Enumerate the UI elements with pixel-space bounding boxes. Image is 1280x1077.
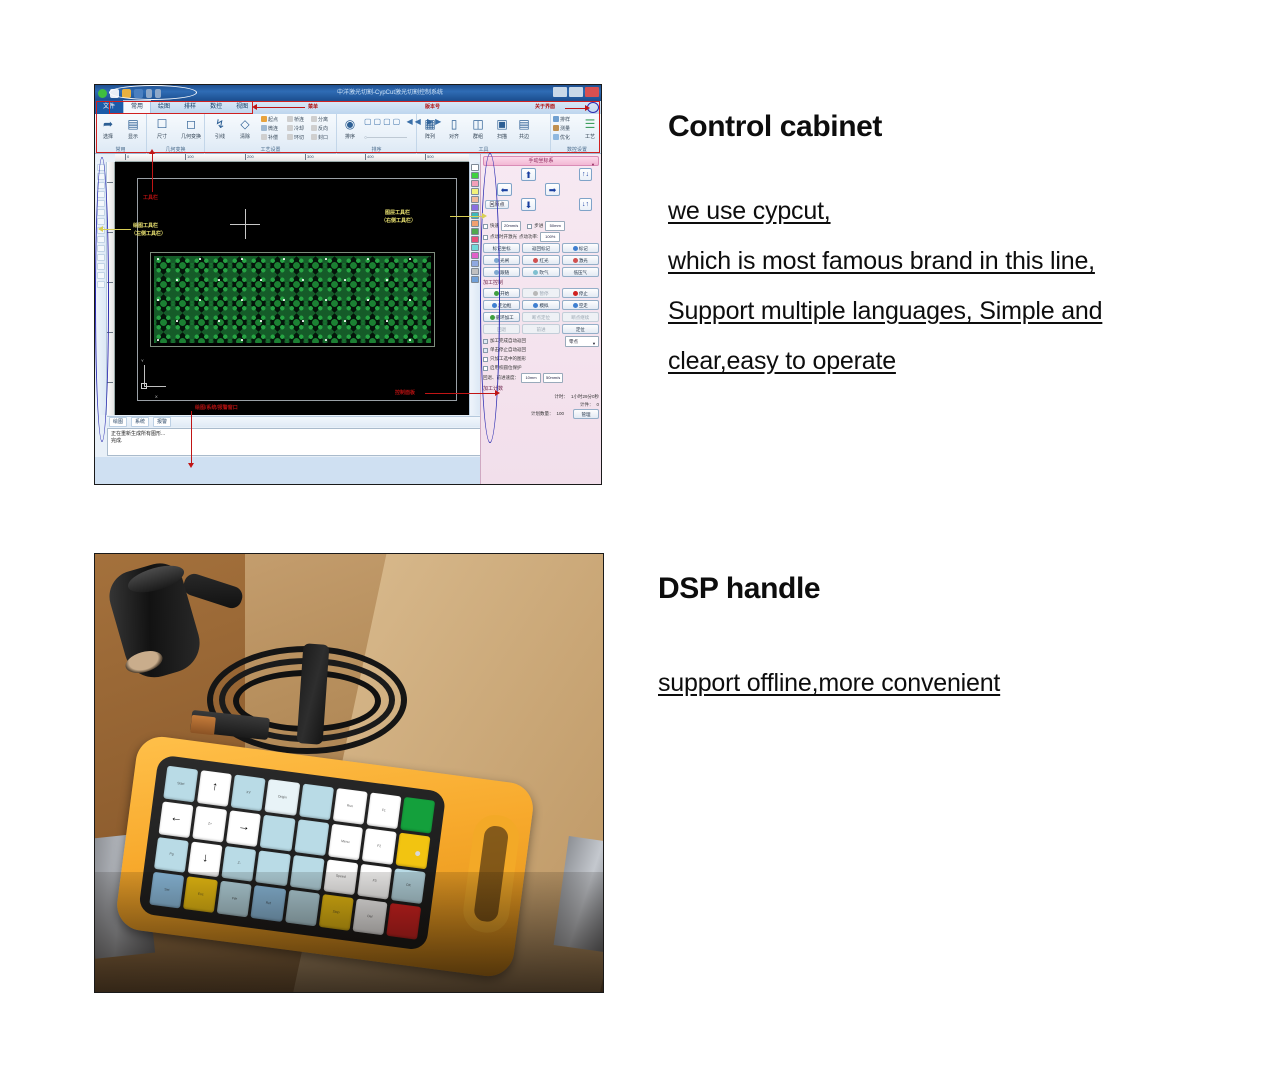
jog-speed-row[interactable]: 快速 20mm/s 步进 50mm: [483, 221, 599, 231]
back-button[interactable]: 回退: [483, 324, 520, 334]
control-cabinet-heading: Control cabinet: [668, 110, 1102, 144]
tab-draw[interactable]: 绘图: [151, 101, 177, 114]
follow-icon: [494, 270, 499, 275]
stat-time-value: 1小时29分0秒: [571, 393, 599, 401]
ribbon-button-shared-edge[interactable]: ▤ 共边: [513, 116, 535, 140]
control-panel[interactable]: 手动坐标系 ▼ ⬆ ⬅ ➡ ⬇ ↑↓ ↓↑ 回原点 快速 20mm/s 步进 5…: [480, 154, 601, 484]
mark-button[interactable]: 标记: [562, 243, 599, 253]
arrow-right-icon: →: [237, 818, 251, 833]
control-cabinet-line-4: clear,easy to operate: [668, 336, 1102, 386]
jog-z-down-button[interactable]: ↓↑: [579, 198, 592, 211]
manage-button[interactable]: 管理: [573, 409, 599, 419]
ruler-label-200: 200: [247, 154, 254, 159]
ribbon-item-start-point[interactable]: 起点: [261, 116, 278, 124]
red-light-icon: [533, 258, 538, 263]
dry-run-button[interactable]: 空走: [562, 300, 599, 310]
layer-swatch-magenta[interactable]: [471, 252, 479, 259]
axis-label-x: X: [155, 394, 158, 399]
tab-cnc[interactable]: 数控: [203, 101, 229, 114]
part-geometry[interactable]: [150, 252, 435, 347]
jog-power-label: 点动功率:: [519, 233, 538, 241]
window-buttons[interactable]: [553, 87, 599, 97]
arrow-down-icon: ↓: [202, 850, 210, 865]
layer-swatch-pink[interactable]: [471, 180, 479, 187]
ribbon-item-compensate[interactable]: 补偿: [261, 134, 278, 142]
draw-tool-point-icon[interactable]: [97, 164, 105, 171]
key-up-arrow[interactable]: ↑: [197, 770, 232, 807]
arrow-left-icon: ←: [170, 809, 184, 824]
breakpoint-continue-button[interactable]: 断点继续: [562, 312, 599, 322]
scan-icon: ▣: [491, 116, 513, 133]
key-r1c1[interactable]: Start: [163, 766, 198, 803]
laser-on-jog-checkbox[interactable]: [483, 235, 488, 240]
stat-count-label: 计件：: [580, 401, 594, 409]
tab-nest[interactable]: 排样: [177, 101, 203, 114]
tab-file[interactable]: 文件: [95, 100, 123, 114]
loop-icon: [490, 315, 495, 320]
cypcut-title-bar: 中洋激光切割-CypCut激光切割控制系统: [95, 85, 601, 101]
fast-checkbox[interactable]: [483, 224, 488, 229]
eraser-icon: ◇: [234, 116, 256, 133]
laser-on-jog-label: 点动时开激光: [490, 233, 517, 241]
open-folder-icon[interactable]: [122, 89, 131, 98]
draw-tool-explode-icon[interactable]: [97, 272, 105, 279]
ribbon-group-geometry: ☐ 尺寸 ◻ 几何变换 几何变换: [147, 114, 205, 154]
layer-swatch-peach[interactable]: [471, 196, 479, 203]
process-button-grid[interactable]: 开始 暂停 停止 走边框 模拟 空走 循环加工 断点定位 断点继续 回退 前进 …: [483, 288, 599, 334]
ribbon-item-cool[interactable]: 冷却: [287, 125, 304, 133]
draw-tool-arc-icon[interactable]: [97, 191, 105, 198]
annotation-arrow-status-panels: [188, 463, 194, 468]
draw-tool-line-icon[interactable]: [97, 173, 105, 180]
draw-tool-poly-icon[interactable]: [97, 209, 105, 216]
bottom-tab-draw[interactable]: 绘图: [109, 417, 127, 427]
draw-tool-trim-icon[interactable]: [97, 227, 105, 234]
ribbon-item-microjoint[interactable]: 微连: [261, 125, 278, 133]
start-point-icon: [261, 116, 267, 122]
stats-title: 加工计数: [483, 385, 599, 393]
jog-laser-row[interactable]: 点动时开激光 点动功率: 100%: [483, 232, 599, 242]
return-origin-button[interactable]: 回原点: [485, 200, 509, 209]
dsp-handle-text-block: DSP handle support offline,more convenie…: [658, 572, 1000, 708]
ribbon-group-process: ↯ 引线 ◇ 清除 起点 微连 补偿 桥连 冷却 环切 分离 反向 封口 工艺设…: [205, 114, 337, 154]
transform-icon: ◻: [178, 116, 204, 133]
save-icon[interactable]: [134, 89, 143, 98]
breakpoint-locate-button[interactable]: 断点定位: [522, 312, 559, 322]
stop-icon: [573, 291, 578, 296]
return-point-select[interactable]: 零点 ▼: [565, 336, 599, 347]
lead-icon: ↯: [209, 116, 231, 133]
key-yellow-r2[interactable]: [395, 832, 430, 869]
jog-left-button[interactable]: ⬅: [497, 183, 512, 196]
key-r1c6[interactable]: Run: [332, 788, 367, 825]
marker-button-grid[interactable]: 标记坐标 返回标记 标记 光闸 红光 激光 跟随 吹气 低压气: [483, 243, 599, 277]
return-speed-row[interactable]: 回退、前进速度： 10mm 50mm/s: [483, 373, 599, 383]
ruler-label-100: 100: [187, 154, 194, 159]
ribbon-item-optimize[interactable]: 优化: [553, 134, 570, 142]
drawing-toolbar[interactable]: [96, 162, 107, 415]
sort-icon: ◉: [339, 116, 361, 133]
maximize-button[interactable]: [569, 87, 583, 97]
low-pressure-gas-button[interactable]: 低压气: [562, 267, 599, 277]
ribbon-button-select[interactable]: ➦ 选择: [97, 116, 119, 140]
stat-planned-value: 100: [556, 410, 564, 418]
window-title: 中洋激光切割-CypCut激光切割控制系统: [275, 87, 505, 99]
stat-time: 计时： 1小时29分0秒: [483, 393, 599, 401]
ribbon-button-array[interactable]: ▦ 阵列: [419, 116, 441, 140]
jog-z-up-button[interactable]: ↑↓: [579, 168, 592, 181]
ribbon-item-seal[interactable]: 封口: [311, 134, 328, 142]
selected-only-checkbox[interactable]: [483, 357, 488, 362]
ribbon-item-measure[interactable]: 测量: [553, 125, 570, 133]
jog-down-button[interactable]: ⬇: [521, 198, 536, 211]
layer-swatch-gray[interactable]: [471, 268, 479, 275]
layer-swatch-white[interactable]: [471, 164, 479, 171]
ribbon-group-label-process: 工艺设置: [205, 147, 336, 154]
bottom-tab-alarm[interactable]: 报警: [153, 417, 171, 427]
bottom-tab-strip[interactable]: 绘图 系统 报警: [107, 416, 480, 427]
optimize-icon: [553, 134, 559, 140]
align-icon: ▯: [443, 116, 465, 133]
filigree-pattern: [154, 256, 431, 343]
frame-button[interactable]: 走边框: [483, 300, 520, 310]
nest-icon: [553, 116, 559, 122]
ribbon-item-nest[interactable]: 排样: [553, 116, 570, 124]
step-value[interactable]: 50mm: [545, 221, 565, 231]
ribbon-item-bridge[interactable]: 桥连: [287, 116, 304, 124]
array-icon: ▦: [419, 116, 441, 133]
layer-swatch-steel[interactable]: [471, 276, 479, 283]
ribbon-item-separate[interactable]: 分离: [311, 116, 328, 124]
ruler-vertical: [107, 162, 115, 415]
return-mark-button[interactable]: 返回标记: [522, 243, 559, 253]
ribbon-group-sort: ◉ 排序 ▢▢▢▢ ◀◀ ▶▶ ○———————— 排序: [337, 114, 417, 154]
microjoint-icon: [261, 125, 267, 131]
app-logo-icon[interactable]: [98, 89, 107, 98]
layer-toolbar[interactable]: [469, 162, 480, 415]
layer-swatch-blue[interactable]: [471, 260, 479, 267]
reverse-icon: [311, 125, 317, 131]
ribbon-item-reverse[interactable]: 反向: [311, 125, 328, 133]
ribbon-group-label-sort: 排序: [337, 147, 416, 154]
auto-return-option[interactable]: 加工完成自动返回: [483, 337, 563, 345]
chevron-down-icon[interactable]: ▼: [592, 339, 596, 348]
bridge-icon: [287, 116, 293, 122]
blow-button[interactable]: 吹气: [522, 267, 559, 277]
stat-time-label: 计时：: [554, 393, 568, 401]
simulate-icon: [533, 303, 538, 308]
key-r2c7[interactable]: F2: [362, 828, 397, 865]
ribbon-button-scan[interactable]: ▣ 扫描: [491, 116, 513, 140]
return-distance-value[interactable]: 10mm: [521, 373, 541, 383]
usb-connector-tip: [190, 715, 216, 735]
draw-tool-fillet-icon[interactable]: [97, 281, 105, 288]
dsp-handle-heading: DSP handle: [658, 572, 1000, 606]
key-r1c4[interactable]: Origin: [265, 779, 300, 816]
shutter-button[interactable]: 光闸: [483, 255, 520, 265]
ribbon-button-size[interactable]: ☐ 尺寸: [151, 116, 173, 140]
ribbon-group-label-geometry: 几何变换: [147, 147, 204, 154]
sort-slider[interactable]: ○————————: [364, 134, 407, 142]
jog-power-value[interactable]: 100%: [540, 232, 560, 242]
layer-swatch-yellow[interactable]: [471, 188, 479, 195]
jog-right-button[interactable]: ➡: [545, 183, 560, 196]
ruler-label-500: 500: [427, 154, 434, 159]
laser-icon: [573, 258, 578, 263]
simulate-button[interactable]: 模拟: [522, 300, 559, 310]
minimize-button[interactable]: [553, 87, 567, 97]
click-stop-option[interactable]: 单击停止自动返回: [483, 346, 563, 354]
key-green-start[interactable]: [400, 797, 435, 834]
shutter-icon: [494, 258, 499, 263]
return-speed-label: 回退、前进速度：: [483, 374, 519, 382]
dsp-handle-photo: Start ↑ XY Origin Run F1 ← Z+ → Menu F2: [94, 553, 604, 993]
mark-coord-button[interactable]: 标记坐标: [483, 243, 520, 253]
cursor-icon: ➦: [97, 116, 119, 133]
layer-swatch-green[interactable]: [471, 172, 479, 179]
bottom-tab-system[interactable]: 系统: [131, 417, 149, 427]
ribbon-button-sort[interactable]: ◉ 排序: [339, 116, 361, 140]
pause-button[interactable]: 暂停: [522, 288, 559, 298]
tab-common[interactable]: 常用: [123, 100, 151, 114]
layer-swatch-purple[interactable]: [471, 204, 479, 211]
key-r2c2[interactable]: Z+: [192, 806, 227, 843]
group-icon: ◫: [467, 116, 489, 133]
dry-run-icon: [573, 303, 578, 308]
protect-option[interactable]: 启用校圆位保护: [483, 364, 563, 372]
ribbon-button-transform[interactable]: ◻ 几何变换: [178, 116, 204, 140]
dsp-handle-line-1: support offline,more convenient: [658, 658, 1000, 708]
seal-icon: [311, 134, 317, 140]
play-icon: [494, 291, 499, 296]
control-cabinet-text-block: Control cabinet we use cypcut, which is …: [668, 110, 1102, 386]
close-button[interactable]: [585, 87, 599, 97]
forward-button[interactable]: 前进: [522, 324, 559, 334]
step-checkbox[interactable]: [527, 224, 532, 229]
ribbon-group-common: ➦ 选择 ▤ 显示 常用: [95, 114, 147, 154]
stat-planned-label: 计划数量：: [531, 410, 554, 418]
redo-icon[interactable]: [155, 89, 161, 98]
shared-edge-icon: ▤: [513, 116, 535, 133]
key-r1c3[interactable]: XY: [231, 775, 266, 812]
draw-tool-mirror-icon[interactable]: [97, 245, 105, 252]
list-icon: ▤: [122, 116, 144, 133]
arrow-up-icon: ↑: [211, 779, 219, 794]
auto-return-row[interactable]: 加工完成自动返回 单击停止自动返回 只加工选中的图形 启用校圆位保护 零点 ▼: [483, 336, 599, 372]
process-section-label: 加工控制: [483, 279, 599, 287]
ribbon-button-display[interactable]: ▤ 显示: [122, 116, 144, 140]
ribbon-button-align[interactable]: ▯ 对齐: [443, 116, 465, 140]
stop-button[interactable]: 停止: [562, 288, 599, 298]
control-panel-title[interactable]: 手动坐标系 ▼: [483, 156, 599, 166]
draw-tool-offset-icon[interactable]: [97, 236, 105, 243]
click-stop-checkbox[interactable]: [483, 348, 488, 353]
mark-icon: [573, 246, 578, 251]
key-r3c1[interactable]: Pg: [154, 837, 189, 874]
laser-button[interactable]: 激光: [562, 255, 599, 265]
cool-icon: [287, 125, 293, 131]
key-r2c4[interactable]: [260, 814, 295, 851]
ribbon-item-ring[interactable]: 环切: [287, 134, 304, 142]
tab-view[interactable]: 视图: [229, 101, 255, 114]
ruler-label-400: 400: [367, 154, 374, 159]
frame-icon: [492, 303, 497, 308]
locate-button[interactable]: 定位: [562, 324, 599, 334]
draw-tool-rotate-icon[interactable]: [97, 254, 105, 261]
draw-tool-text-icon[interactable]: [97, 218, 105, 225]
stat-planned: 计划数量： 100 管理: [483, 409, 599, 419]
selected-only-option[interactable]: 只加工选中的图形: [483, 355, 563, 363]
jog-up-button[interactable]: ⬆: [521, 168, 536, 181]
key-right-arrow[interactable]: →: [226, 810, 261, 847]
ribbon-group-tools: ▦ 阵列 ▯ 对齐 ◫ 群组 ▣ 扫描 ▤ 共边: [417, 114, 551, 154]
key-r2c6[interactable]: Menu: [328, 823, 363, 860]
red-light-button[interactable]: 红光: [522, 255, 559, 265]
control-cabinet-line-1: we use cypcut,: [668, 186, 1102, 236]
protect-checkbox[interactable]: [483, 366, 488, 371]
measure-icon: [553, 125, 559, 131]
pause-icon: [533, 291, 538, 296]
draw-tool-circle-icon[interactable]: [97, 182, 105, 189]
fast-label: 快速: [490, 222, 499, 230]
ribbon-toolbar[interactable]: ➦ 选择 ▤ 显示 常用 ☐ 尺寸 ◻ 几何变换 几何变换: [95, 114, 601, 154]
ribbon-button-lead[interactable]: ↯ 引线: [209, 116, 231, 140]
key-r2c5[interactable]: [294, 819, 329, 856]
slide-canvas: 中洋激光切割-CypCut激光切割控制系统 文件 常用 绘图 排样 数控 视图 …: [0, 0, 1280, 1077]
layer-swatch-darkgreen[interactable]: [471, 228, 479, 235]
separate-icon: [311, 116, 317, 122]
follow-button[interactable]: 跟随: [483, 267, 520, 277]
quick-access-toolbar[interactable]: [98, 89, 161, 98]
ribbon-group-label-common: 常用: [95, 147, 146, 154]
photo-shadow-overlay: [95, 872, 603, 992]
ribbon-button-process[interactable]: ☰ 工艺: [579, 116, 601, 140]
ribbon-button-clear[interactable]: ◇ 清除: [234, 116, 256, 140]
fast-value[interactable]: 20mm/s: [501, 221, 521, 231]
ribbon-group-cnc-settings: 排样 测量 优化 ☰ 工艺 数控设置: [551, 114, 602, 154]
blow-icon: [533, 270, 538, 275]
layer-swatch-cyan[interactable]: [471, 244, 479, 251]
layer-swatch-teal[interactable]: [471, 212, 479, 219]
ring-icon: [287, 134, 293, 140]
jog-pad[interactable]: ⬆ ⬅ ➡ ⬇ ↑↓ ↓↑ 回原点: [483, 168, 599, 220]
axis-label-y: Y: [141, 358, 144, 363]
ruler-label-0: 0: [127, 154, 129, 159]
start-button[interactable]: 开始: [483, 288, 520, 298]
control-cabinet-software-screenshot: 中洋激光切割-CypCut激光切割控制系统 文件 常用 绘图 排样 数控 视图 …: [94, 84, 602, 485]
layer-swatch-orange[interactable]: [471, 220, 479, 227]
new-file-icon[interactable]: [110, 89, 119, 98]
ruler-horizontal: 0 100 200 300 400 500: [115, 154, 469, 162]
drawing-canvas[interactable]: Y X: [115, 162, 469, 415]
ribbon-group-label-cnc: 数控设置: [551, 147, 602, 154]
step-label: 步进: [534, 222, 543, 230]
key-left-arrow[interactable]: ←: [159, 801, 194, 838]
key-r1c7[interactable]: F1: [366, 792, 401, 829]
stat-count-value: 0: [596, 401, 599, 409]
compensate-icon: [261, 134, 267, 140]
layer-swatch-rose[interactable]: [471, 236, 479, 243]
return-speed-value[interactable]: 50mm/s: [543, 373, 563, 383]
size-icon: ☐: [151, 116, 173, 133]
control-cabinet-line-3: Support multiple languages, Simple and: [668, 286, 1102, 336]
ribbon-button-group[interactable]: ◫ 群组: [467, 116, 489, 140]
draw-tool-rect-icon[interactable]: [97, 200, 105, 207]
ribbon-tab-strip[interactable]: 文件 常用 绘图 排样 数控 视图: [95, 101, 601, 114]
draw-tool-scale-icon[interactable]: [97, 263, 105, 270]
control-panel-title-text: 手动坐标系: [528, 158, 553, 164]
auto-return-checkbox[interactable]: [483, 339, 488, 344]
undo-icon[interactable]: [146, 89, 152, 98]
ribbon-group-label-tools: 工具: [417, 147, 550, 154]
stat-count: 计件： 0: [483, 401, 599, 409]
process-icon: ☰: [579, 116, 601, 133]
control-cabinet-line-2: which is most famous brand in this line,: [668, 236, 1102, 286]
key-r1c5[interactable]: [299, 783, 334, 820]
loop-process-button[interactable]: 循环加工: [483, 312, 520, 322]
ruler-label-300: 300: [307, 154, 314, 159]
